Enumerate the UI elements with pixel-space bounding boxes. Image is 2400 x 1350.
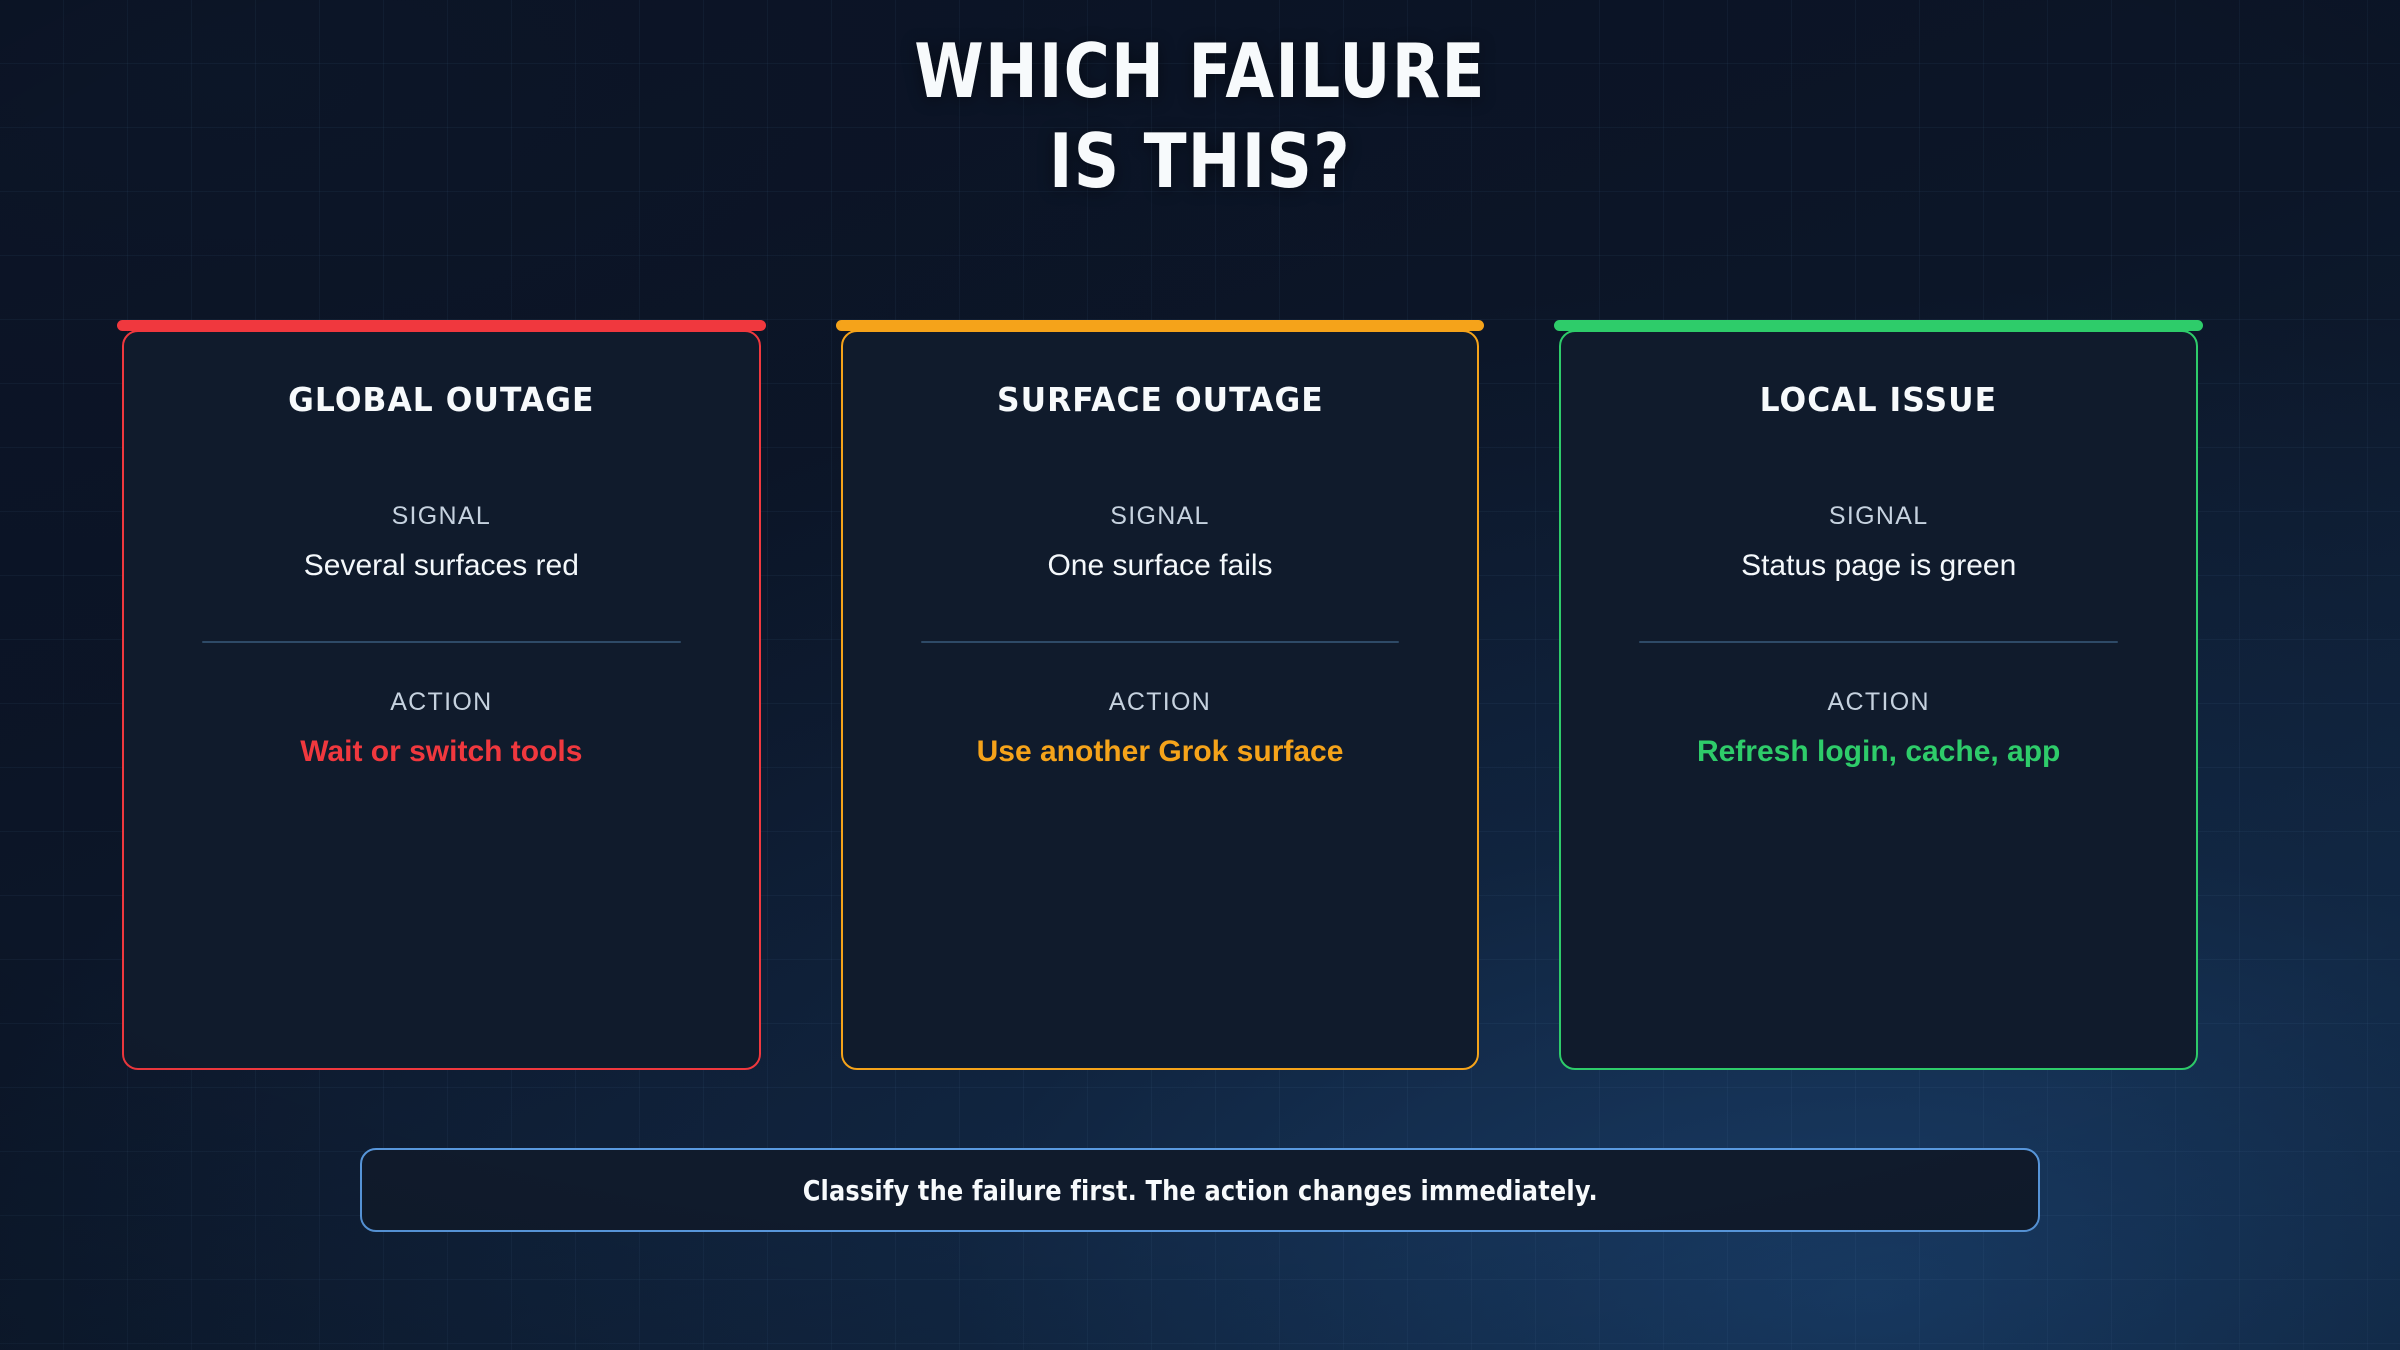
card-divider [921,641,1400,643]
accent-bar-green [1554,320,2203,331]
slide-canvas: WHICH FAILURE IS THIS? GLOBAL OUTAGE SIG… [0,0,2400,1350]
accent-bar-red [117,320,766,331]
page-title-line-2: IS THIS? [192,116,2208,206]
card-divider [202,641,681,643]
accent-bar-amber [836,320,1485,331]
page-title: WHICH FAILURE IS THIS? [0,26,2400,206]
card-surface-outage[interactable]: SURFACE OUTAGE SIGNAL One surface fails … [841,330,1480,1070]
signal-label: SIGNAL [124,501,759,531]
card-local-issue[interactable]: LOCAL ISSUE SIGNAL Status page is green … [1559,330,2198,1070]
action-block: ACTION Refresh login, cache, app [1561,687,2196,771]
signal-block: SIGNAL One surface fails [843,501,1478,585]
action-label: ACTION [843,687,1478,717]
card-global-outage[interactable]: GLOBAL OUTAGE SIGNAL Several surfaces re… [122,330,761,1070]
signal-value: Status page is green [1561,547,2196,585]
action-block: ACTION Use another Grok surface [843,687,1478,771]
action-value: Refresh login, cache, app [1561,733,2196,771]
action-value: Wait or switch tools [124,733,759,771]
card-title: GLOBAL OUTAGE [140,380,743,419]
action-label: ACTION [124,687,759,717]
signal-label: SIGNAL [1561,501,2196,531]
signal-block: SIGNAL Several surfaces red [124,501,759,585]
signal-value: One surface fails [843,547,1478,585]
action-value: Use another Grok surface [843,733,1478,771]
signal-label: SIGNAL [843,501,1478,531]
failure-type-cards: GLOBAL OUTAGE SIGNAL Several surfaces re… [122,330,2198,1070]
action-block: ACTION Wait or switch tools [124,687,759,771]
card-title: SURFACE OUTAGE [859,380,1462,419]
signal-block: SIGNAL Status page is green [1561,501,2196,585]
takeaway-banner: Classify the failure first. The action c… [360,1148,2040,1232]
action-label: ACTION [1561,687,2196,717]
signal-value: Several surfaces red [124,547,759,585]
page-title-line-1: WHICH FAILURE [192,26,2208,116]
card-title: LOCAL ISSUE [1577,380,2180,419]
takeaway-text: Classify the failure first. The action c… [802,1174,1597,1207]
card-divider [1639,641,2118,643]
